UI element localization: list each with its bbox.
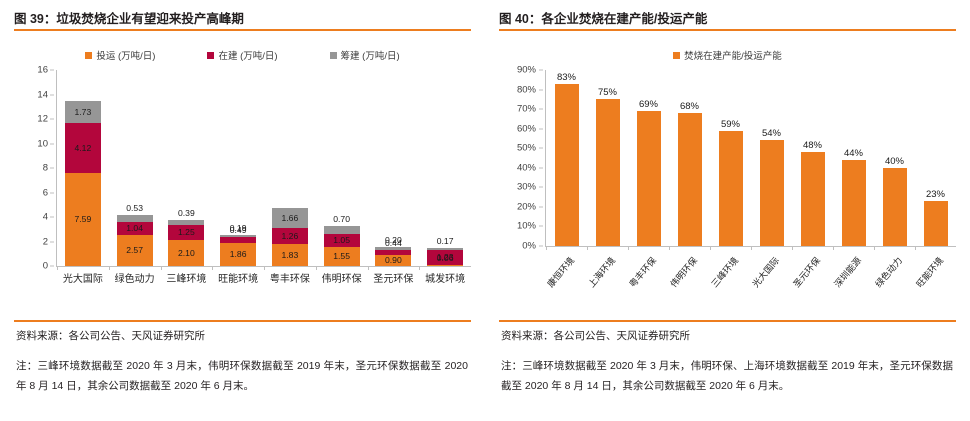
legend-label: 筹建 (万吨/日) (341, 48, 400, 62)
bar-value-label: 59% (721, 119, 740, 130)
bar-value-label: 0.06 (437, 254, 454, 263)
bar-value-label: 0.17 (437, 237, 454, 246)
x-axis-category-text: 旺能环境 (912, 254, 945, 290)
y-axis-tick-label: 50% (517, 143, 536, 154)
x-axis-category-label: 伟明环保 (669, 250, 710, 320)
plot-area-39: 0246810121416 1.734.127.590.531.042.570.… (14, 70, 471, 284)
bar-segment[interactable]: 0.70 (324, 226, 360, 235)
legend-swatch-icon (207, 52, 214, 59)
x-axis-category-text: 圣元环保 (789, 254, 822, 290)
y-axis-tick-mark (539, 70, 543, 71)
bar-value-label: 0.39 (178, 209, 195, 218)
bar-value-label: 2.10 (178, 249, 195, 258)
bar-value-label: 1.66 (282, 214, 299, 223)
legend-item-2[interactable]: 筹建 (万吨/日) (330, 48, 400, 62)
x-axis-category-label: 圣元环保 (368, 270, 420, 285)
y-axis-tick-mark (50, 241, 54, 242)
x-axis-category-label: 绿色动力 (874, 250, 915, 320)
bar-segment[interactable]: 1.86 (220, 243, 256, 266)
bar-column[interactable]: 68% (669, 70, 710, 246)
legend-item-0[interactable]: 投运 (万吨/日) (85, 48, 155, 62)
x-axis-category-text: 粤丰环保 (625, 254, 658, 290)
bar-value-label: 0.53 (126, 204, 143, 213)
bar-value-label: 48% (803, 140, 822, 151)
bar-value-label: 1.55 (333, 252, 350, 261)
bar-value-label: 68% (680, 101, 699, 112)
y-axis-tick-mark (539, 89, 543, 90)
y-axis-tick-label: 80% (517, 84, 536, 95)
legend-40: 焚烧在建产能/投运产能 (499, 48, 956, 62)
stacked-bar[interactable]: 0.701.051.55 (316, 70, 368, 266)
y-axis-tick-label: 2 (43, 236, 48, 247)
bar-value-label: 4.12 (75, 144, 92, 153)
y-axis-39: 0246810121416 (14, 70, 56, 266)
figure-page: 图 39：垃圾焚烧企业有望迎来投产高峰期 投运 (万吨/日)在建 (万吨/日)筹… (0, 0, 970, 421)
stacked-bar[interactable]: 1.734.127.59 (57, 70, 109, 266)
bar-segment[interactable]: 1.05 (324, 234, 360, 247)
chart-39: 投运 (万吨/日)在建 (万吨/日)筹建 (万吨/日) 024681012141… (14, 36, 471, 316)
y-axis-tick-mark (50, 192, 54, 193)
bar-value-label: 54% (762, 128, 781, 139)
y-axis-tick-label: 10% (517, 221, 536, 232)
y-axis-tick-mark (50, 70, 54, 71)
y-axis-tick-label: 4 (43, 212, 48, 223)
bar-value-label: 1.86 (230, 250, 247, 259)
figure-39-panel: 图 39：垃圾焚烧企业有望迎来投产高峰期 投运 (万吨/日)在建 (万吨/日)筹… (0, 0, 485, 421)
x-axis-category-label: 伟明环保 (316, 270, 368, 285)
bar-group-39: 1.734.127.590.531.042.570.391.252.100.19… (57, 70, 471, 266)
y-axis-tick-label: 70% (517, 104, 536, 115)
plot-area-40: 0%10%20%30%40%50%60%70%80%90% 83%75%69%6… (499, 70, 956, 284)
legend-swatch-icon (85, 52, 92, 59)
bar-segment[interactable]: 1.73 (65, 101, 101, 122)
y-axis-tick-mark (50, 119, 54, 120)
y-axis-tick-label: 12 (37, 114, 48, 125)
title-rule-left (14, 29, 471, 31)
x-axis-category-label: 圣元环保 (792, 250, 833, 320)
y-axis-tick-label: 14 (37, 89, 48, 100)
bar-value-label: 1.26 (282, 232, 299, 241)
x-axis-category-text: 三峰环境 (707, 254, 740, 290)
bar-column[interactable]: 59% (710, 70, 751, 246)
x-axis-category-label: 城发环境 (419, 270, 471, 285)
stacked-bar[interactable]: 0.200.440.90 (368, 70, 420, 266)
legend-label: 焚烧在建产能/投运产能 (684, 48, 782, 62)
y-axis-tick-label: 20% (517, 201, 536, 212)
bar-column[interactable]: 48% (792, 70, 833, 246)
bar-value-label: 1.25 (178, 228, 195, 237)
bar[interactable]: 40% (883, 168, 907, 246)
y-axis-tick-mark (539, 246, 543, 247)
bar[interactable]: 59% (719, 131, 743, 246)
y-axis-tick-label: 40% (517, 162, 536, 173)
bar-segment[interactable]: 0.90 (375, 255, 411, 266)
y-axis-tick-label: 30% (517, 182, 536, 193)
bar[interactable]: 68% (678, 113, 702, 246)
x-axis-category-text: 上海环境 (584, 254, 617, 290)
bar[interactable]: 75% (596, 99, 620, 246)
bar-value-label: 2.57 (126, 246, 143, 255)
y-axis-tick-label: 16 (37, 65, 48, 76)
legend-39: 投运 (万吨/日)在建 (万吨/日)筹建 (万吨/日) (14, 48, 471, 62)
figure-39-title: 图 39：垃圾焚烧企业有望迎来投产高峰期 (14, 8, 244, 27)
bar-value-label: 0.49 (230, 226, 247, 235)
bar-segment[interactable]: 0.06 (427, 265, 463, 266)
stacked-bar[interactable]: 0.190.491.86 (212, 70, 264, 266)
bar-value-label: 40% (885, 156, 904, 167)
x-axis-category-label: 光大国际 (57, 270, 109, 285)
y-axis-tick-mark (539, 187, 543, 188)
bar-segment[interactable]: 1.83 (272, 244, 308, 266)
bar-segment[interactable]: 2.57 (117, 235, 153, 266)
legend-label: 在建 (万吨/日) (218, 48, 277, 62)
footer-rule-left (14, 320, 471, 322)
x-axis-category-label: 粤丰环保 (264, 270, 316, 285)
bar-segment[interactable]: 1.25 (168, 225, 204, 240)
y-axis-tick-mark (539, 206, 543, 207)
bar[interactable]: 54% (760, 140, 784, 246)
bar[interactable]: 69% (637, 111, 661, 246)
bar-value-label: 75% (598, 87, 617, 98)
source-line-left: 资料来源：各公司公告、天风证券研究所 (16, 328, 471, 343)
y-axis-tick-mark (539, 128, 543, 129)
bar-value-label: 1.83 (282, 251, 299, 260)
bar-column[interactable]: 54% (751, 70, 792, 246)
y-axis-tick-mark (539, 167, 543, 168)
y-axis-tick-label: 0% (522, 241, 536, 252)
note-line-left: 注：三峰环境数据截至 2020 年 3 月末，伟明环保数据截至 2019 年末，… (16, 356, 468, 397)
bar-value-label: 1.05 (333, 236, 350, 245)
y-axis-tick-label: 8 (43, 163, 48, 174)
bar-segment[interactable]: 1.66 (272, 208, 308, 228)
x-axis-category-label: 三峰环境 (710, 250, 751, 320)
x-axis-labels-40: 康恒环境上海环境粤丰环保伟明环保三峰环境光大国际圣元环保深圳能源绿色动力旺能环境 (546, 250, 956, 320)
bar[interactable]: 44% (842, 160, 866, 246)
bar-column[interactable]: 83% (546, 70, 587, 246)
x-axis-category-text: 绿色动力 (871, 254, 904, 290)
y-axis-tick-label: 90% (517, 65, 536, 76)
y-axis-tick-mark (539, 148, 543, 149)
bar-column[interactable]: 23% (915, 70, 956, 246)
bar-segment[interactable]: 1.26 (272, 228, 308, 243)
y-axis-40: 0%10%20%30%40%50%60%70%80%90% (499, 70, 545, 246)
bar-column[interactable]: 69% (628, 70, 669, 246)
title-rule-right (499, 29, 956, 31)
bar[interactable]: 83% (555, 84, 579, 246)
y-axis-tick-mark (50, 94, 54, 95)
bar-value-label: 7.59 (75, 215, 92, 224)
x-axis-category-label: 三峰环境 (161, 270, 213, 285)
bar-value-label: 0.44 (385, 239, 402, 248)
figure-40-title: 图 40：各企业焚烧在建产能/投运产能 (499, 8, 707, 27)
x-axis-category-label: 旺能环境 (212, 270, 264, 285)
chart-40: 焚烧在建产能/投运产能 0%10%20%30%40%50%60%70%80%90… (499, 36, 956, 316)
figure-40-panel: 图 40：各企业焚烧在建产能/投运产能 焚烧在建产能/投运产能 0%10%20%… (485, 0, 970, 421)
y-axis-tick-mark (50, 217, 54, 218)
x-axis-category-text: 深圳能源 (830, 254, 863, 290)
x-axis-labels-39: 光大国际绿色动力三峰环境旺能环境粤丰环保伟明环保圣元环保城发环境 (57, 270, 471, 285)
stacked-bar[interactable]: 1.661.261.83 (264, 70, 316, 266)
x-axis-category-label: 上海环境 (587, 250, 628, 320)
bar-segment[interactable]: 1.55 (324, 247, 360, 266)
source-line-right: 资料来源：各公司公告、天风证券研究所 (501, 328, 956, 343)
y-axis-tick-mark (50, 266, 54, 267)
y-axis-tick-label: 0 (43, 261, 48, 272)
legend-item-0[interactable]: 焚烧在建产能/投运产能 (673, 48, 782, 62)
stacked-bar[interactable]: 0.531.042.57 (109, 70, 161, 266)
x-axis-category-text: 伟明环保 (666, 254, 699, 290)
bar-segment[interactable]: 7.59 (65, 173, 101, 266)
legend-swatch-icon (673, 52, 680, 59)
y-axis-tick-mark (50, 143, 54, 144)
y-axis-tick-label: 60% (517, 123, 536, 134)
bar-column[interactable]: 44% (833, 70, 874, 246)
bar-group-40: 83%75%69%68%59%54%48%44%40%23% (546, 70, 956, 246)
y-axis-tick-mark (50, 168, 54, 169)
x-axis-category-text: 康恒环境 (543, 254, 576, 290)
x-axis-category-label: 光大国际 (751, 250, 792, 320)
y-axis-tick-label: 6 (43, 187, 48, 198)
footer-rule-right (499, 320, 956, 322)
bar-value-label: 1.73 (75, 108, 92, 117)
legend-swatch-icon (330, 52, 337, 59)
note-line-right: 注：三峰环境数据截至 2020 年 3 月末，伟明环保、上海环境数据截至 201… (501, 356, 953, 397)
y-axis-tick-mark (539, 226, 543, 227)
bar-value-label: 83% (557, 72, 576, 83)
bar-column[interactable]: 40% (874, 70, 915, 246)
x-axis-category-label: 粤丰环保 (628, 250, 669, 320)
bar-segment[interactable]: 4.12 (65, 123, 101, 173)
x-axis-category-label: 旺能环境 (915, 250, 956, 320)
bar-value-label: 0.90 (385, 256, 402, 265)
x-axis-category-label: 深圳能源 (833, 250, 874, 320)
bar[interactable]: 23% (924, 201, 948, 246)
legend-item-1[interactable]: 在建 (万吨/日) (207, 48, 277, 62)
stacked-bar[interactable]: 0.171.230.06 (419, 70, 471, 266)
bar-value-label: 1.04 (126, 224, 143, 233)
x-axis-category-label: 绿色动力 (109, 270, 161, 285)
bar-column[interactable]: 75% (587, 70, 628, 246)
bar-value-label: 69% (639, 99, 658, 110)
bar-value-label: 23% (926, 189, 945, 200)
bar[interactable]: 48% (801, 152, 825, 246)
x-axis-category-label: 康恒环境 (546, 250, 587, 320)
bar-value-label: 44% (844, 148, 863, 159)
y-axis-tick-mark (539, 109, 543, 110)
x-axis-category-text: 光大国际 (748, 254, 781, 290)
legend-label: 投运 (万吨/日) (96, 48, 155, 62)
stacked-bar[interactable]: 0.391.252.10 (161, 70, 213, 266)
bar-segment[interactable]: 2.10 (168, 240, 204, 266)
bar-segment[interactable]: 1.04 (117, 222, 153, 235)
bar-value-label: 0.70 (333, 215, 350, 224)
y-axis-tick-label: 10 (37, 138, 48, 149)
